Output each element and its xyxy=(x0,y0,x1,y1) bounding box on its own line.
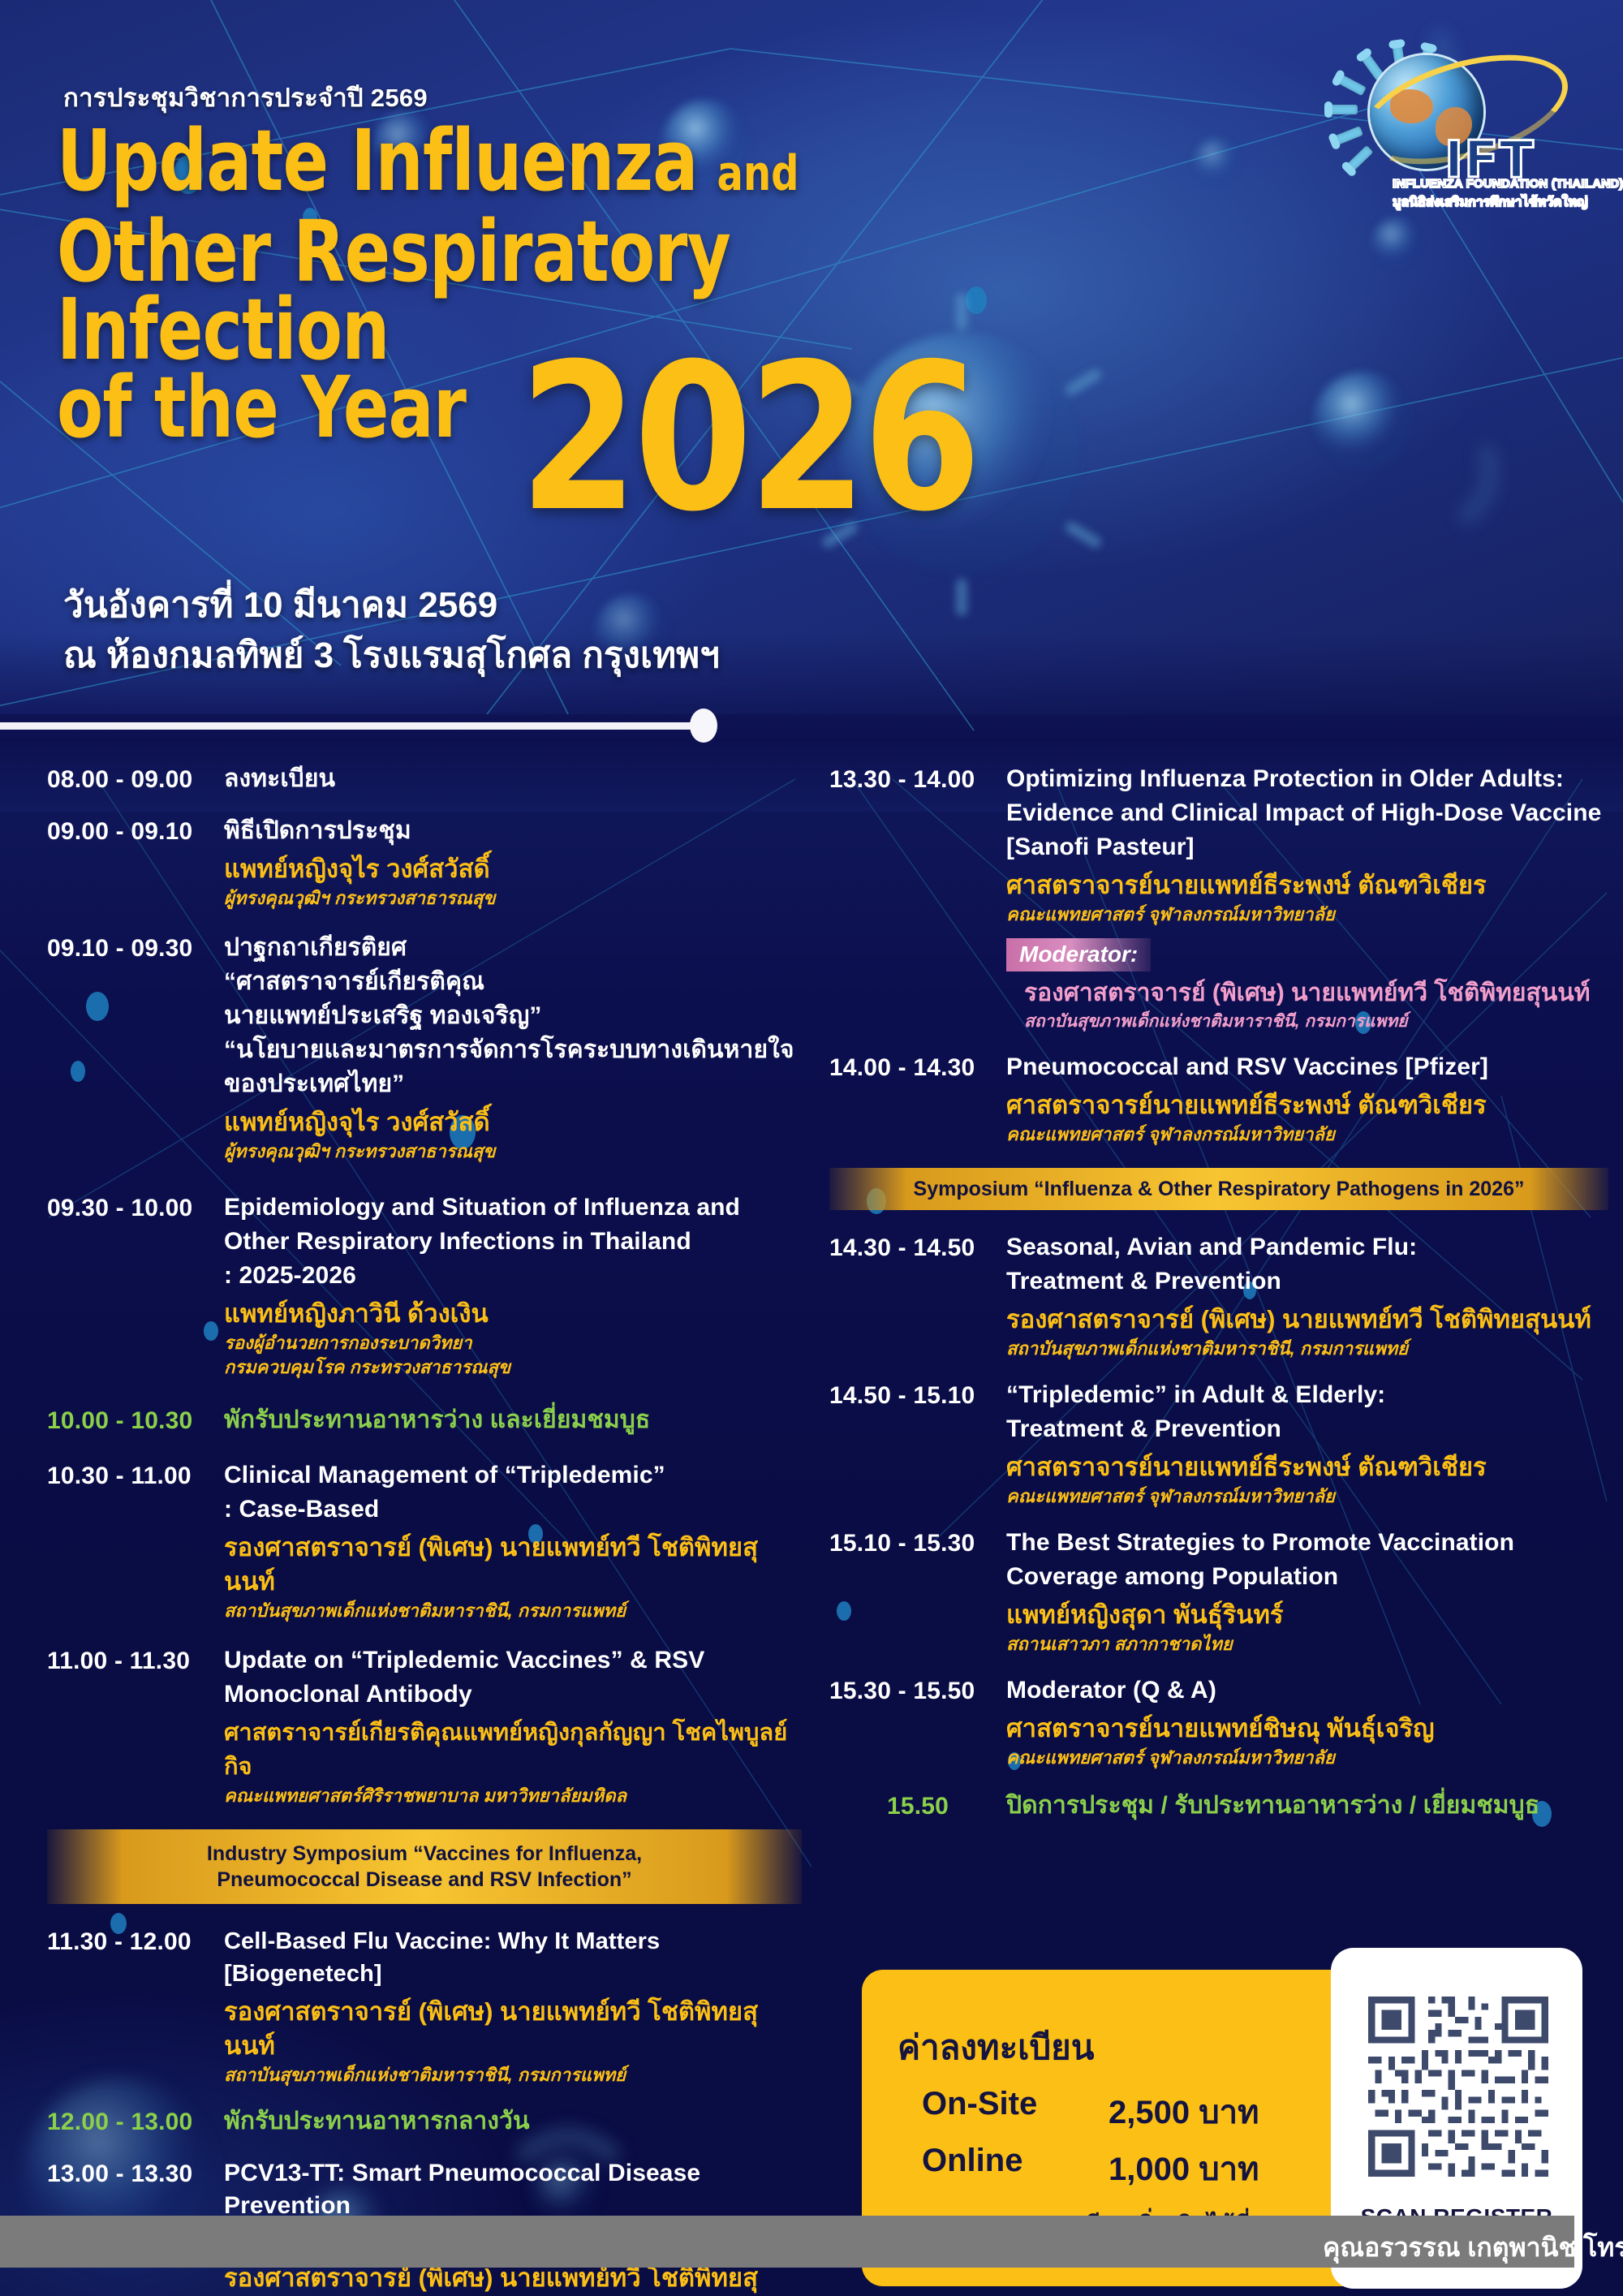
row-topic: ปาฐกถาเกียรติยศ xyxy=(224,932,802,964)
row-affiliation: สถานเสาวภา สภากาชาดไทย xyxy=(1006,1632,1608,1656)
schedule-row: 11.30 - 12.00 Cell-Based Flu Vaccine: Wh… xyxy=(47,1925,802,2087)
header-divider xyxy=(0,722,710,730)
row-time: 11.30 - 12.00 xyxy=(47,1925,224,2087)
row-affiliation: คณะแพทยศาสตร์ จุฬาลงกรณ์มหาวิทยาลัย xyxy=(1006,1746,1608,1770)
row-body: The Best Strategies to Promote Vaccinati… xyxy=(1006,1527,1608,1656)
symposium-band: Symposium “Influenza & Other Respiratory… xyxy=(829,1168,1608,1210)
row-time: 09.00 - 09.10 xyxy=(47,815,224,911)
row-topic-2: Evidence and Clinical Impact of High-Dos… xyxy=(1006,797,1608,829)
row-topic-2: Coverage among Population xyxy=(1006,1561,1608,1593)
row-time: 14.00 - 14.30 xyxy=(829,1051,1006,1147)
event-date: วันอังคารที่ 10 มีนาคม 2569 xyxy=(63,580,720,631)
row-topic: Seasonal, Avian and Pandemic Flu: xyxy=(1006,1231,1608,1264)
row-time: 10.00 - 10.30 xyxy=(47,1404,224,1438)
title-line-2: Other Respiratory xyxy=(57,213,868,291)
row-affiliation: ผู้ทรงคุณวุฒิฯ กระทรวงสาธารณสุข xyxy=(224,886,802,911)
row-speaker: ศาสตราจารย์นายแพทย์ธีระพงษ์ ตัณฑวิเชียร xyxy=(1006,1088,1608,1122)
schedule-row: 15.30 - 15.50 Moderator (Q & A) ศาสตราจา… xyxy=(829,1674,1608,1770)
schedule-row: 13.30 - 14.00 Optimizing Influenza Prote… xyxy=(829,763,1608,1033)
ift-logo: IFT INFLUENZA FOUNDATION (THAILAND) มูลน… xyxy=(1321,39,1581,211)
row-topic: Cell-Based Flu Vaccine: Why It Matters [… xyxy=(224,1925,802,1990)
registration-title: ค่าลงทะเบียน xyxy=(898,2021,1095,2074)
band-line-1: Symposium “Influenza & Other Respiratory… xyxy=(837,1176,1600,1202)
row-body: Moderator (Q & A) ศาสตราจารย์นายแพทย์ชิษ… xyxy=(1006,1674,1608,1770)
row-time: 14.50 - 15.10 xyxy=(829,1379,1006,1509)
schedule-row: 09.30 - 10.00 Epidemiology and Situation… xyxy=(47,1191,802,1380)
row-topic-2: Treatment & Prevention xyxy=(1006,1265,1608,1298)
schedule-row: 10.30 - 11.00 Clinical Management of “Tr… xyxy=(47,1459,802,1623)
header-divider-dot xyxy=(690,709,717,743)
row-speaker: แพทย์หญิงจุไร วงศ์สวัสดิ์ xyxy=(224,852,802,886)
row-time: 09.30 - 10.00 xyxy=(47,1191,224,1380)
schedule-row-break: 10.00 - 10.30 พักรับประทานอาหารว่าง และเ… xyxy=(47,1404,802,1438)
row-affiliation: คณะแพทยศาสตร์ จุฬาลงกรณ์มหาวิทยาลัย xyxy=(1006,902,1608,927)
row-speaker: แพทย์หญิงภาวินี ด้วงเงิน xyxy=(224,1297,802,1331)
conference-poster: การประชุมวิชาการประจำปี 2569 Update Infl… xyxy=(0,0,1623,2296)
schedule-row: 08.00 - 09.00 ลงทะเบียน xyxy=(47,763,802,797)
band-line-1: Industry Symposium “Vaccines for Influen… xyxy=(55,1841,794,1867)
title-and: and xyxy=(698,145,799,202)
row-affiliation: สถาบันสุขภาพเด็กแห่งชาติมหาราชินี, กรมกา… xyxy=(1006,1337,1608,1361)
row-topic: พิธีเปิดการประชุม xyxy=(224,815,802,847)
row-body: Cell-Based Flu Vaccine: Why It Matters [… xyxy=(224,1925,802,2087)
row-affiliation: สถาบันสุขภาพเด็กแห่งชาติมหาราชินี, กรมกา… xyxy=(224,2063,802,2087)
row-speaker: ศาสตราจารย์นายแพทย์ธีระพงษ์ ตัณฑวิเชียร xyxy=(1006,1450,1608,1484)
row-affiliation: ผู้ทรงคุณวุฒิฯ กระทรวงสาธารณสุข xyxy=(224,1139,802,1164)
onsite-label: On-Site xyxy=(922,2086,1109,2138)
year-headline: 2026 xyxy=(519,349,977,528)
qr-code-svg[interactable] xyxy=(1362,1980,1555,2193)
schedule-row: 09.10 - 09.30 ปาฐกถาเกียรติยศ “ศาสตราจาร… xyxy=(47,932,802,1164)
qr-code[interactable] xyxy=(1362,1980,1555,2193)
row-body: ปาฐกถาเกียรติยศ “ศาสตราจารย์เกียรติคุณ น… xyxy=(224,932,802,1164)
row-affiliation: คณะแพทยศาสตร์ จุฬาลงกรณ์มหาวิทยาลัย xyxy=(1006,1122,1608,1147)
row-topic: พักรับประทานอาหารกลางวัน xyxy=(224,2105,802,2138)
schedule-row: 14.00 - 14.30 Pneumococcal and RSV Vacci… xyxy=(829,1051,1608,1147)
row-affiliation: คณะแพทยศาสตร์ จุฬาลงกรณ์มหาวิทยาลัย xyxy=(1006,1484,1608,1509)
row-time: 15.50 xyxy=(829,1790,1006,1824)
row-topic-5: ของประเทศไทย” xyxy=(224,1068,802,1101)
row-topic-3: นายแพทย์ประเสริฐ ทองเจริญ” xyxy=(224,1000,802,1032)
row-time: 10.30 - 11.00 xyxy=(47,1459,224,1623)
row-topic: ลงทะเบียน xyxy=(224,763,802,795)
date-venue-block: วันอังคารที่ 10 มีนาคม 2569 ณ ห้องกมลทิพ… xyxy=(63,580,720,681)
row-topic: Optimizing Influenza Protection in Older… xyxy=(1006,763,1608,795)
logo-thai-name: มูลนิธิส่งเสริมการศึกษาไข้หวัดใหญ่ xyxy=(1393,192,1579,213)
row-speaker: รองศาสตราจารย์ (พิเศษ) นายแพทย์ทวี โชติพ… xyxy=(1006,1303,1608,1337)
row-body: พิธีเปิดการประชุม แพทย์หญิงจุไร วงศ์สวัส… xyxy=(224,815,802,911)
row-body: Optimizing Influenza Protection in Older… xyxy=(1006,763,1608,1033)
row-body: Epidemiology and Situation of Influenza … xyxy=(224,1191,802,1380)
row-affiliation-2: กรมควบคุมโรค กระทรวงสาธารณสุข xyxy=(224,1355,802,1380)
row-topic-3: : 2025-2026 xyxy=(224,1260,802,1292)
row-speaker: แพทย์หญิงจุไร วงศ์สวัสดิ์ xyxy=(224,1105,802,1139)
title-line-1: Update Influenzaand xyxy=(57,122,868,213)
row-speaker: รองศาสตราจารย์ (พิเศษ) นายแพทย์ทวี โชติพ… xyxy=(224,1531,802,1599)
row-body: “Tripledemic” in Adult & Elderly: Treatm… xyxy=(1006,1379,1608,1509)
online-label: Online xyxy=(922,2143,1109,2195)
row-topic: PCV13-TT: Smart Pneumococcal Disease Pre… xyxy=(224,2157,802,2222)
row-body: Pneumococcal and RSV Vaccines [Pfizer] ศ… xyxy=(1006,1051,1608,1147)
row-speaker: แพทย์หญิงสุดา พันธุ์รินทร์ xyxy=(1006,1598,1608,1632)
row-topic-2: “ศาสตราจารย์เกียรติคุณ xyxy=(224,966,802,998)
schedule-right-column: 13.30 - 14.00 Optimizing Influenza Prote… xyxy=(829,763,1608,1842)
row-topic-2: : Case-Based xyxy=(224,1493,802,1526)
row-topic: Update on “Tripledemic Vaccines” & RSV xyxy=(224,1644,802,1677)
schedule-row-break: 12.00 - 13.00 พักรับประทานอาหารกลางวัน xyxy=(47,2105,802,2139)
row-body: ปิดการประชุม / รับประทานอาหารว่าง / เยี่… xyxy=(1006,1790,1608,1824)
row-time: 13.30 - 14.00 xyxy=(829,763,1006,1033)
row-topic-4: “นโยบายและมาตรการจัดการโรคระบบทางเดินหาย… xyxy=(224,1034,802,1066)
row-body: Seasonal, Avian and Pandemic Flu: Treatm… xyxy=(1006,1231,1608,1361)
schedule-row: 09.00 - 09.10 พิธีเปิดการประชุม แพทย์หญิ… xyxy=(47,815,802,911)
row-affiliation: สถาบันสุขภาพเด็กแห่งชาติมหาราชินี, กรมกา… xyxy=(224,1599,802,1623)
row-time: 15.30 - 15.50 xyxy=(829,1674,1006,1770)
fee-row-online: Online 1,000 บาท xyxy=(922,2143,1344,2195)
online-value: 1,000 บาท xyxy=(1109,2143,1259,2195)
row-speaker: ศาสตราจารย์นายแพทย์ชิษณุ พันธุ์เจริญ xyxy=(1006,1712,1608,1746)
contact-text: คุณอรวรรณ เกตุพานิช โทร: 086-9901806 xyxy=(1323,2227,1623,2268)
moderator-name: รองศาสตราจารย์ (พิเศษ) นายแพทย์ทวี โชติพ… xyxy=(1006,976,1608,1010)
row-time: 11.00 - 11.30 xyxy=(47,1644,224,1808)
moderator-label: Moderator: xyxy=(1006,938,1151,971)
row-topic: Epidemiology and Situation of Influenza … xyxy=(224,1191,802,1224)
row-body: พักรับประทานอาหารว่าง และเยี่ยมชมบูธ xyxy=(224,1404,802,1438)
row-topic: พักรับประทานอาหารว่าง และเยี่ยมชมบูธ xyxy=(224,1404,802,1437)
row-topic: ปิดการประชุม / รับประทานอาหารว่าง / เยี่… xyxy=(1006,1790,1608,1822)
schedule-row: 14.50 - 15.10 “Tripledemic” in Adult & E… xyxy=(829,1379,1608,1509)
row-body: พักรับประทานอาหารกลางวัน xyxy=(224,2105,802,2139)
row-topic-2: Other Respiratory Infections in Thailand xyxy=(224,1226,802,1258)
logo-english-name: INFLUENZA FOUNDATION (THAILAND) xyxy=(1393,177,1579,191)
onsite-value: 2,500 บาท xyxy=(1109,2086,1259,2138)
row-topic-2: Treatment & Prevention xyxy=(1006,1413,1608,1445)
schedule-row-break: 15.50 ปิดการประชุม / รับประทานอาหารว่าง … xyxy=(829,1790,1608,1824)
row-topic: Pneumococcal and RSV Vaccines [Pfizer] xyxy=(1006,1051,1608,1083)
schedule-row: 15.10 - 15.30 The Best Strategies to Pro… xyxy=(829,1527,1608,1656)
event-venue: ณ ห้องกมลทิพย์ 3 โรงแรมสุโกศล กรุงเทพฯ xyxy=(63,631,720,681)
fee-row-onsite: On-Site 2,500 บาท xyxy=(922,2086,1344,2138)
row-topic: Moderator (Q & A) xyxy=(1006,1674,1608,1707)
row-topic-2: Monoclonal Antibody xyxy=(224,1678,802,1711)
row-topic: The Best Strategies to Promote Vaccinati… xyxy=(1006,1527,1608,1559)
row-time: 08.00 - 09.00 xyxy=(47,763,224,797)
band-line-2: Pneumococcal Disease and RSV Infection” xyxy=(55,1867,794,1893)
row-time: 14.30 - 14.50 xyxy=(829,1231,1006,1361)
row-body: Update on “Tripledemic Vaccines” & RSV M… xyxy=(224,1644,802,1808)
row-affiliation: รองผู้อำนวยการกองระบาดวิทยา xyxy=(224,1331,802,1355)
row-speaker: ศาสตราจารย์เกียรติคุณแพทย์หญิงกุลกัญญา โ… xyxy=(224,1716,802,1784)
row-time: 12.00 - 13.00 xyxy=(47,2105,224,2139)
moderator-affiliation: สถาบันสุขภาพเด็กแห่งชาติมหาราชินี, กรมกา… xyxy=(1006,1010,1608,1033)
row-topic: “Tripledemic” in Adult & Elderly: xyxy=(1006,1379,1608,1411)
row-body: ลงทะเบียน xyxy=(224,763,802,797)
row-speaker: ศาสตราจารย์นายแพทย์ธีระพงษ์ ตัณฑวิเชียร xyxy=(1006,868,1608,902)
row-topic: Clinical Management of “Tripledemic” xyxy=(224,1459,802,1492)
industry-symposium-band: Industry Symposium “Vaccines for Influen… xyxy=(47,1829,802,1904)
row-affiliation: คณะแพทยศาสตร์ศิริราชพยาบาล มหาวิทยาลัยมห… xyxy=(224,1784,802,1808)
schedule-row: 11.00 - 11.30 Update on “Tripledemic Vac… xyxy=(47,1644,802,1808)
registration-card: ค่าลงทะเบียน On-Site 2,500 บาท Online 1,… xyxy=(844,1948,1607,2296)
row-speaker: รองศาสตราจารย์ (พิเศษ) นายแพทย์ทวี โชติพ… xyxy=(224,1995,802,2063)
row-topic-3: [Sanofi Pasteur] xyxy=(1006,831,1608,864)
row-time: 15.10 - 15.30 xyxy=(829,1527,1006,1656)
schedule-left-column: 08.00 - 09.00 ลงทะเบียน 09.00 - 09.10 พิ… xyxy=(47,763,802,2296)
schedule-row: 14.30 - 14.50 Seasonal, Avian and Pandem… xyxy=(829,1231,1608,1361)
row-body: Clinical Management of “Tripledemic” : C… xyxy=(224,1459,802,1623)
row-time: 09.10 - 09.30 xyxy=(47,932,224,1164)
